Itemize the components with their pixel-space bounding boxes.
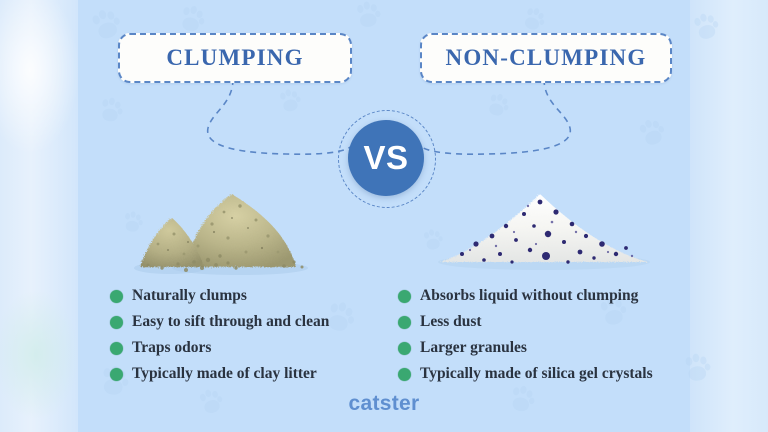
paw-print-icon [351, 0, 384, 31]
bullet-dot-icon [110, 316, 123, 329]
heading-box-clumping: CLUMPING [118, 33, 352, 83]
list-item: Less dust [398, 311, 653, 333]
left-edge-glow [0, 0, 92, 432]
connector-left [208, 79, 352, 154]
list-item-label: Typically made of clay litter [132, 365, 317, 383]
right-edge-band [690, 0, 768, 432]
list-item: Naturally clumps [110, 285, 329, 307]
bullet-dot-icon [398, 368, 411, 381]
vs-label: VS [363, 139, 408, 177]
list-item: Easy to sift through and clean [110, 311, 329, 333]
heading-label-non-clumping: NON-CLUMPING [446, 45, 647, 71]
list-item-label: Naturally clumps [132, 287, 247, 305]
list-item-label: Absorbs liquid without clumping [420, 287, 638, 305]
paw-print-icon [516, 2, 549, 35]
bullet-dot-icon [110, 368, 123, 381]
list-item-label: Easy to sift through and clean [132, 313, 329, 331]
paw-print-icon [632, 114, 670, 152]
clumping-litter-image [128, 168, 338, 276]
list-item: Traps odors [110, 337, 329, 359]
left-edge-band [0, 0, 78, 432]
list-item-label: Typically made of silica gel crystals [420, 365, 653, 383]
paw-print-icon [173, 1, 209, 37]
list-item-label: Less dust [420, 313, 482, 331]
non-clumping-litter-image [436, 178, 652, 274]
heading-label-clumping: CLUMPING [166, 45, 303, 71]
feature-list-clumping: Naturally clumps Easy to sift through an… [110, 285, 329, 389]
list-item-label: Traps odors [132, 339, 211, 357]
bullet-dot-icon [398, 342, 411, 355]
feature-list-non-clumping: Absorbs liquid without clumping Less dus… [398, 285, 653, 389]
bullet-dot-icon [110, 342, 123, 355]
paw-print-icon [274, 86, 304, 116]
paw-print-icon [94, 94, 126, 126]
paw-print-icon [679, 351, 714, 386]
list-item: Larger granules [398, 337, 653, 359]
heading-box-non-clumping: NON-CLUMPING [420, 33, 672, 83]
vs-badge: VS [348, 120, 424, 196]
bullet-dot-icon [398, 290, 411, 303]
bullet-dot-icon [398, 316, 411, 329]
paw-print-icon [481, 89, 513, 121]
list-item: Typically made of clay litter [110, 363, 329, 385]
bullet-dot-icon [110, 290, 123, 303]
infographic-canvas: CLUMPING NON-CLUMPING VS [0, 0, 768, 432]
connector-right [420, 79, 570, 154]
list-item: Typically made of silica gel crystals [398, 363, 653, 385]
list-item-label: Larger granules [420, 339, 527, 357]
paw-print-icon [687, 9, 723, 45]
list-item: Absorbs liquid without clumping [398, 285, 653, 307]
brand-logo: catster [0, 392, 768, 416]
